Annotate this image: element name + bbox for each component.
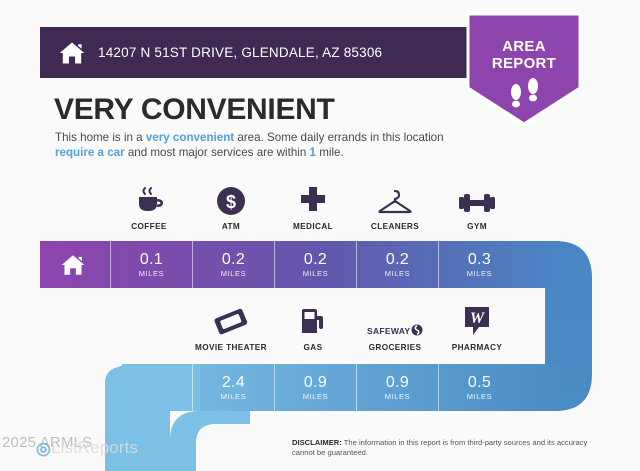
distance-movie-theater: 2.4 MILES [192, 364, 274, 411]
distance-unit: MILES [467, 269, 493, 278]
distance-unit: MILES [221, 269, 247, 278]
distance-value: 0.2 [222, 251, 245, 268]
category-label: GROCERIES [369, 343, 422, 352]
distance-unit: MILES [303, 392, 329, 401]
distance-coffee: 0.1 MILES [110, 241, 192, 288]
distance-medical: 0.2 MILES [274, 241, 356, 288]
property-address: 14207 N 51ST DRIVE, GLENDALE, AZ 85306 [98, 45, 382, 60]
distance-value: 0.1 [140, 251, 163, 268]
category-movie-theater: MOVIE THEATER [190, 303, 272, 352]
clothes-hanger-icon [377, 182, 413, 216]
desc-part-2: area. Some daily errands in this locatio… [234, 131, 443, 144]
medical-cross-icon [298, 182, 328, 216]
distance-unit: MILES [303, 269, 329, 278]
category-label: COFFEE [131, 222, 167, 231]
safeway-logo-icon: SAFEWAY [367, 303, 423, 337]
distance-pharmacy: 0.5 MILES [438, 364, 520, 411]
desc-part-4: mile. [316, 146, 344, 159]
movie-ticket-icon [214, 303, 248, 337]
badge-line-2: REPORT [464, 55, 584, 72]
category-medical: MEDICAL [272, 182, 354, 231]
area-report-page: 14207 N 51ST DRIVE, GLENDALE, AZ 85306 A… [0, 0, 640, 471]
dollar-circle-icon: $ [216, 182, 246, 216]
distance-gas: 0.9 MILES [274, 364, 356, 411]
desc-highlight-convenient: very convenient [146, 131, 234, 144]
category-groceries: SAFEWAY GROCERIES [354, 303, 436, 352]
distance-unit: MILES [139, 269, 165, 278]
home-marker-icon [60, 252, 86, 278]
category-atm: $ ATM [190, 182, 272, 231]
distance-atm: 0.2 MILES [192, 241, 274, 288]
desc-part-3: and most major services are within [125, 146, 310, 159]
category-coffee: COFFEE [108, 182, 190, 231]
distance-unit: MILES [467, 392, 493, 401]
category-gym: GYM [436, 182, 518, 231]
svg-text:$: $ [226, 192, 236, 212]
distance-value: 0.2 [304, 251, 327, 268]
gas-pump-icon [298, 303, 328, 337]
distance-row-2: 2.4 MILES 0.9 MILES 0.9 MILES 0.5 MILES [192, 364, 520, 411]
disclaimer: DISCLAIMER: The information in this repo… [292, 438, 592, 458]
disclaimer-label: DISCLAIMER: [292, 438, 342, 447]
distance-value: 0.2 [386, 251, 409, 268]
category-label: MOVIE THEATER [195, 343, 267, 352]
badge-line-1: AREA [464, 38, 584, 55]
page-title: VERY CONVENIENT [54, 93, 335, 127]
category-label: MEDICAL [293, 222, 333, 231]
desc-highlight-car: require a car [55, 146, 125, 159]
dumbbell-icon [458, 182, 496, 216]
distance-gym: 0.3 MILES [438, 241, 520, 288]
desc-part-1: This home is in a [55, 131, 146, 144]
category-label: GAS [304, 343, 323, 352]
page-description: This home is in a very convenient area. … [55, 130, 455, 160]
category-icons-row-2: MOVIE THEATER GAS SAFEWAY GROCERIES [190, 303, 518, 352]
category-label: GYM [467, 222, 487, 231]
area-report-badge: AREA REPORT [464, 12, 584, 128]
badge-label: AREA REPORT [464, 38, 584, 72]
coffee-cup-icon [133, 182, 165, 216]
category-cleaners: CLEANERS [354, 182, 436, 231]
category-pharmacy: W PHARMACY [436, 303, 518, 352]
category-label: CLEANERS [371, 222, 419, 231]
category-gas: GAS [272, 303, 354, 352]
home-icon [58, 39, 86, 67]
svg-text:W: W [470, 310, 486, 327]
distance-value: 2.4 [222, 374, 245, 391]
category-label: ATM [222, 222, 240, 231]
distance-row-1: 0.1 MILES 0.2 MILES 0.2 MILES 0.2 MILES … [110, 241, 520, 288]
distance-cleaners: 0.2 MILES [356, 241, 438, 288]
distance-value: 0.9 [304, 374, 327, 391]
distance-value: 0.9 [386, 374, 409, 391]
distance-unit: MILES [221, 392, 247, 401]
svg-text:SAFEWAY: SAFEWAY [367, 326, 410, 336]
distance-value: 0.3 [468, 251, 491, 268]
distance-groceries: 0.9 MILES [356, 364, 438, 411]
walgreens-logo-icon: W [462, 303, 492, 337]
category-icons-row-1: COFFEE $ ATM MEDICAL [108, 182, 518, 231]
distance-unit: MILES [385, 269, 411, 278]
distance-value: 0.5 [468, 374, 491, 391]
category-label: PHARMACY [452, 343, 503, 352]
distance-unit: MILES [385, 392, 411, 401]
